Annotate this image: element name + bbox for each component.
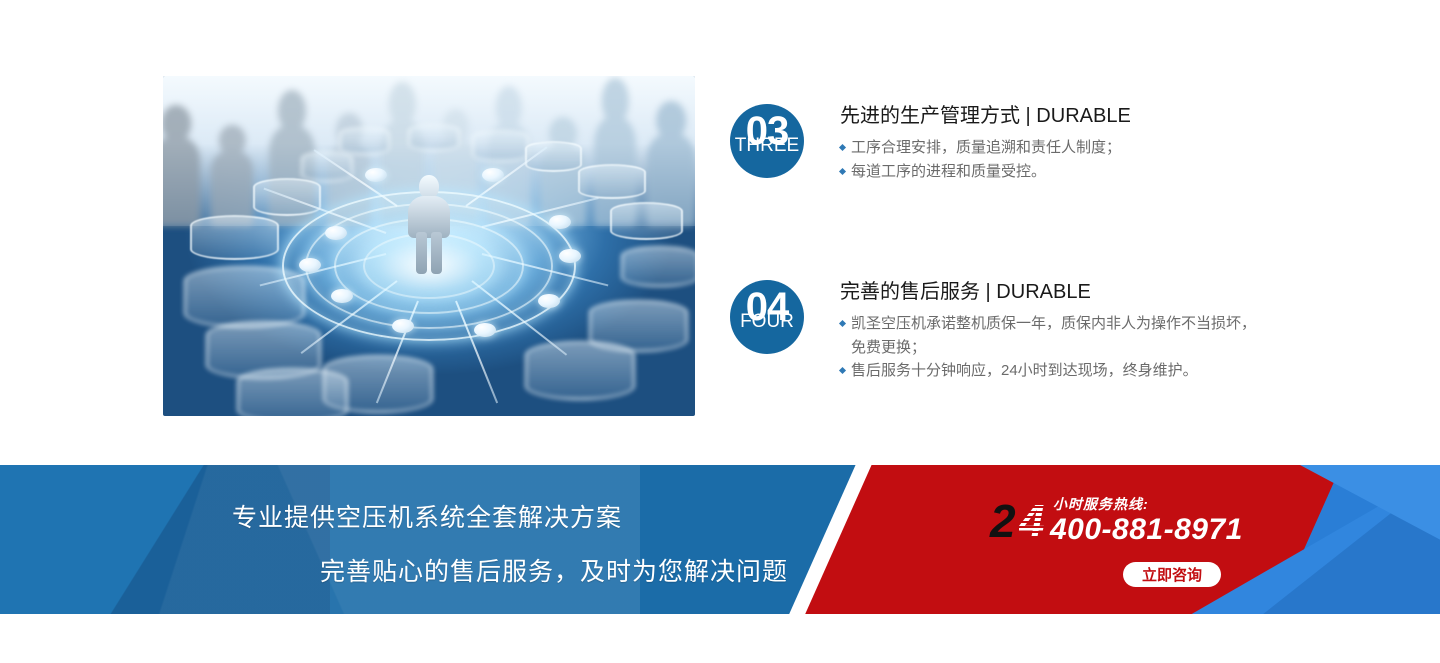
photo-node: [325, 226, 347, 240]
network-hub-illustration: [163, 76, 695, 416]
photo-token: [578, 164, 646, 199]
photo-person-figure: [406, 175, 452, 273]
feature-badge-04: 04 FOUR: [730, 280, 804, 354]
photo-token: [190, 215, 279, 260]
photo-token: [621, 246, 695, 287]
feature-heading: 完善的售后服务 | DURABLE: [840, 280, 1260, 304]
banner-slogan: 专业提供空压机系统全套解决方案 完善贴心的售后服务，及时为您解决问题: [0, 465, 900, 614]
hotline-label: 小时服务热线:: [1053, 494, 1149, 514]
photo-token: [301, 151, 353, 182]
feature-heading: 先进的生产管理方式 | DURABLE: [840, 104, 1260, 128]
feature-bullet: 工序合理安排，质量追溯和责任人制度；: [840, 136, 1260, 160]
consult-now-button[interactable]: 立即咨询: [1123, 562, 1221, 587]
feature-badge-word: THREE: [730, 136, 804, 155]
photo-token: [339, 127, 391, 155]
photo-node: [392, 319, 414, 333]
feature-bullet: 每道工序的进程和质量受控。: [840, 160, 1260, 184]
photo-token: [610, 202, 683, 240]
banner-slogan-line2: 完善贴心的售后服务，及时为您解决问题: [320, 552, 788, 588]
photo-token: [408, 124, 460, 152]
feature-bullet-list: 凯圣空压机承诺整机质保一年，质保内非人为操作不当损坏，免费更换； 售后服务十分钟…: [840, 312, 1260, 383]
photo-node: [331, 289, 353, 303]
photo-token: [525, 341, 635, 399]
feature-bullet: 凯圣空压机承诺整机质保一年，质保内非人为操作不当损坏，免费更换；: [840, 312, 1260, 359]
feature-bullet-list: 工序合理安排，质量追溯和责任人制度； 每道工序的进程和质量受控。: [840, 136, 1260, 183]
photo-node: [474, 323, 496, 337]
feature-text-03: 先进的生产管理方式 | DURABLE 工序合理安排，质量追溯和责任人制度； 每…: [840, 104, 1260, 183]
photo-node: [365, 168, 387, 182]
hotline-digit-2: 2: [990, 498, 1016, 544]
feature-badge-word: FOUR: [730, 312, 804, 331]
hotline-phone-number: 400-881-8971: [1050, 513, 1243, 547]
banner-slogan-line1: 专业提供空压机系统全套解决方案: [232, 498, 622, 534]
photo-token: [472, 130, 529, 161]
photo-node: [538, 294, 560, 308]
photo-node: [299, 258, 321, 272]
feature-badge-03: 03 THREE: [730, 104, 804, 178]
feature-text-04: 完善的售后服务 | DURABLE 凯圣空压机承诺整机质保一年，质保内非人为操作…: [840, 280, 1260, 383]
hotline-group: 2 4 小时服务热线: 400-881-8971 立即咨询: [990, 490, 1290, 600]
photo-token: [237, 368, 347, 416]
features-section: 03 THREE 先进的生产管理方式 | DURABLE 工序合理安排，质量追溯…: [0, 0, 1440, 455]
photo-node: [482, 168, 504, 182]
hotline-digit-4: 4: [1019, 498, 1045, 544]
feature-bullet: 售后服务十分钟响应，24小时到达现场，终身维护。: [840, 359, 1260, 383]
